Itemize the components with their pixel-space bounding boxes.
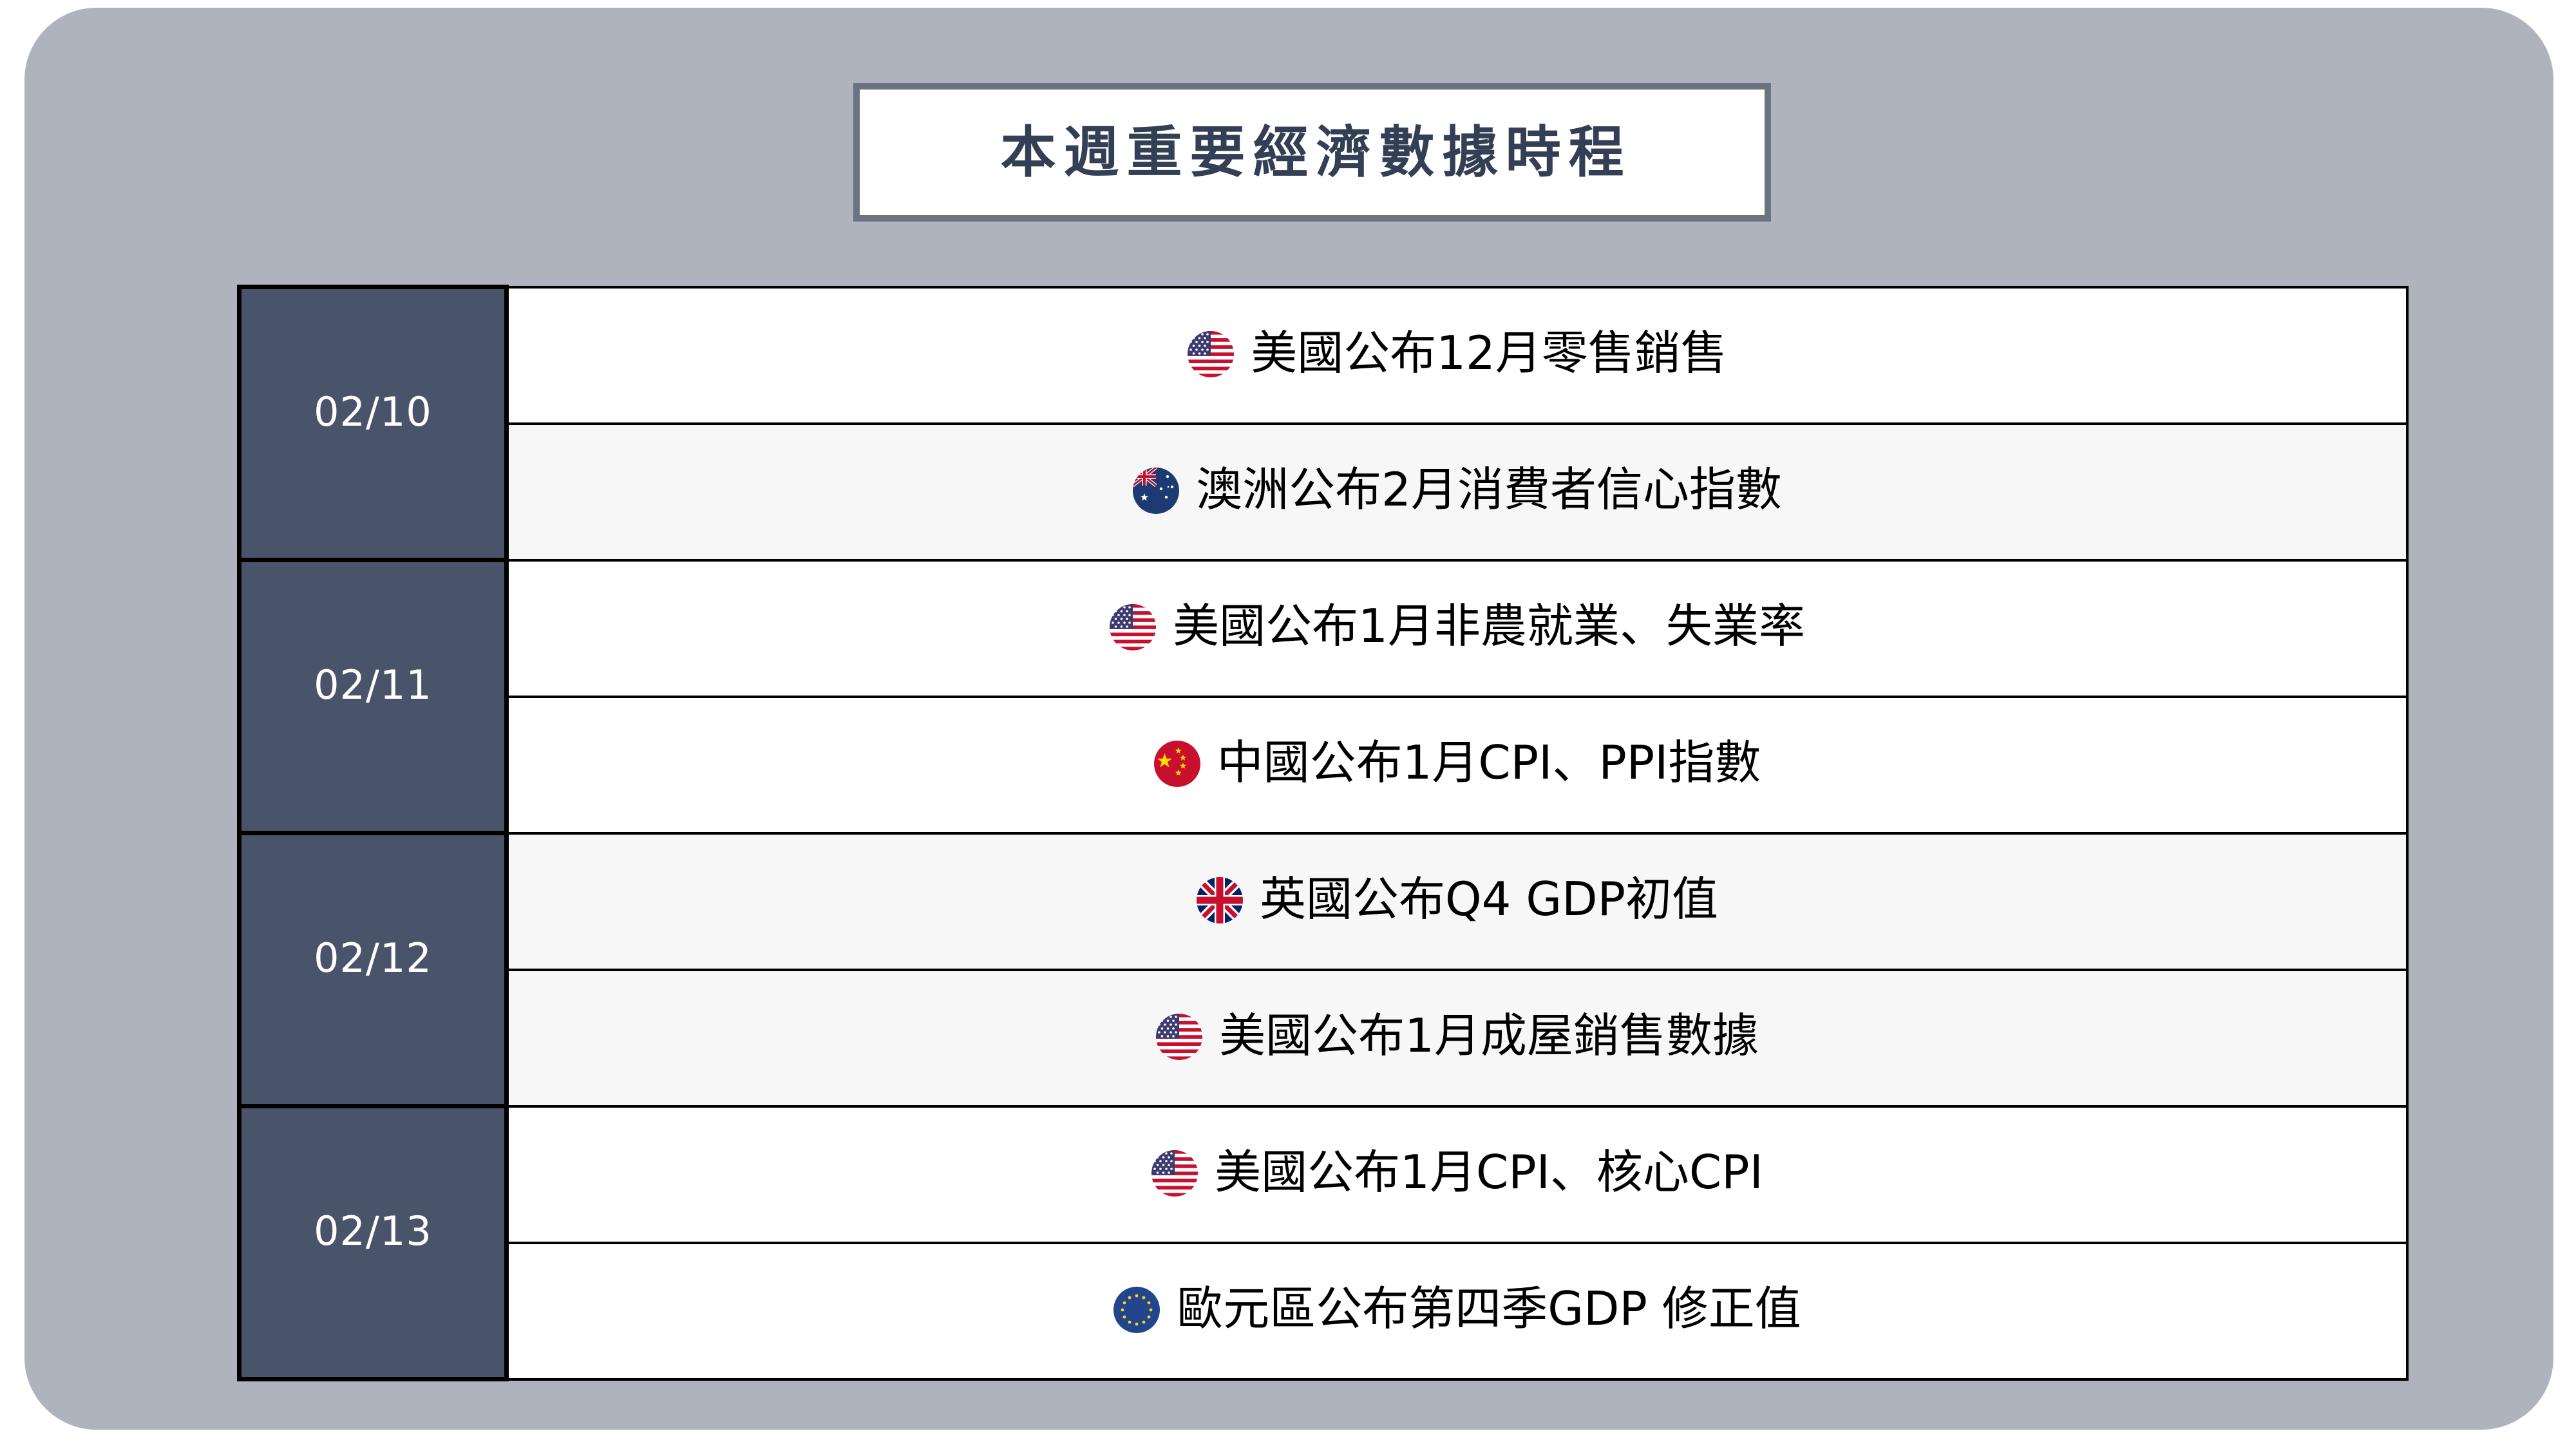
event-cell: 美國公布1月非農就業、失業率: [507, 560, 2408, 697]
flag-eu-icon: [1113, 1287, 1160, 1333]
date-label: 02/11: [241, 661, 504, 708]
poster-card: 本週重要經濟數據時程 02/10美國公布12月零售銷售澳洲公布2月消費者信心指數…: [24, 8, 2553, 1430]
flag-gb-icon: [1197, 877, 1243, 923]
event-content: 美國公布12月零售銷售: [509, 286, 2406, 420]
page-title: 本週重要經濟數據時程: [993, 125, 1632, 180]
event-cell: 美國公布1月成屋銷售數據: [507, 970, 2408, 1106]
table-row: 歐元區公布第四季GDP 修正值: [240, 1243, 2408, 1379]
table-row: 中國公布1月CPI、PPI指數: [240, 697, 2408, 833]
flag-au-icon: [1133, 468, 1179, 514]
date-label: 02/12: [241, 934, 504, 981]
table-row: 02/13美國公布1月CPI、核心CPI: [240, 1106, 2408, 1243]
event-content: 澳洲公布2月消費者信心指數: [509, 422, 2406, 556]
event-label: 歐元區公布第四季GDP 修正值: [1177, 1285, 1801, 1332]
event-label: 中國公布1月CPI、PPI指數: [1217, 739, 1761, 786]
event-label: 美國公布1月CPI、核心CPI: [1215, 1149, 1763, 1195]
flag-us-icon: [1151, 1150, 1198, 1197]
table-row: 02/12英國公布Q4 GDP初值: [240, 833, 2408, 970]
table-row: 澳洲公布2月消費者信心指數: [240, 424, 2408, 560]
date-cell: 02/11: [240, 560, 507, 833]
schedule-body: 02/10美國公布12月零售銷售澳洲公布2月消費者信心指數02/11美國公布1月…: [240, 287, 2408, 1379]
flag-us-icon: [1188, 331, 1234, 377]
table-row: 02/10美國公布12月零售銷售: [240, 287, 2408, 424]
table-row: 美國公布1月成屋銷售數據: [240, 970, 2408, 1106]
date-cell: 02/10: [240, 287, 507, 560]
table-row: 02/11美國公布1月非農就業、失業率: [240, 560, 2408, 697]
event-label: 美國公布1月非農就業、失業率: [1173, 603, 1805, 649]
event-cell: 歐元區公布第四季GDP 修正值: [507, 1243, 2408, 1379]
event-content: 英國公布Q4 GDP初值: [509, 832, 2406, 966]
flag-us-icon: [1110, 604, 1156, 650]
event-content: 中國公布1月CPI、PPI指數: [509, 696, 2406, 829]
date-label: 02/10: [241, 388, 504, 435]
date-cell: 02/12: [240, 833, 507, 1106]
economic-calendar-table: 02/10美國公布12月零售銷售澳洲公布2月消費者信心指數02/11美國公布1月…: [237, 285, 2409, 1381]
poster-title-box: 本週重要經濟數據時程: [853, 83, 1771, 222]
event-content: 美國公布1月非農就業、失業率: [509, 559, 2406, 693]
event-label: 美國公布12月零售銷售: [1251, 330, 1727, 376]
flag-cn-icon: [1154, 741, 1200, 787]
event-content: 歐元區公布第四季GDP 修正值: [509, 1242, 2406, 1376]
event-label: 美國公布1月成屋銷售數據: [1219, 1012, 1759, 1059]
flag-us-icon: [1156, 1014, 1202, 1060]
event-cell: 美國公布1月CPI、核心CPI: [507, 1106, 2408, 1243]
event-cell: 中國公布1月CPI、PPI指數: [507, 697, 2408, 833]
date-cell: 02/13: [240, 1106, 507, 1379]
event-label: 澳洲公布2月消費者信心指數: [1196, 466, 1782, 513]
event-cell: 澳洲公布2月消費者信心指數: [507, 424, 2408, 560]
event-content: 美國公布1月CPI、核心CPI: [509, 1105, 2406, 1239]
event-cell: 美國公布12月零售銷售: [507, 287, 2408, 424]
date-label: 02/13: [241, 1207, 504, 1255]
event-content: 美國公布1月成屋銷售數據: [509, 969, 2406, 1103]
event-label: 英國公布Q4 GDP初值: [1260, 876, 1718, 922]
event-cell: 英國公布Q4 GDP初值: [507, 833, 2408, 970]
